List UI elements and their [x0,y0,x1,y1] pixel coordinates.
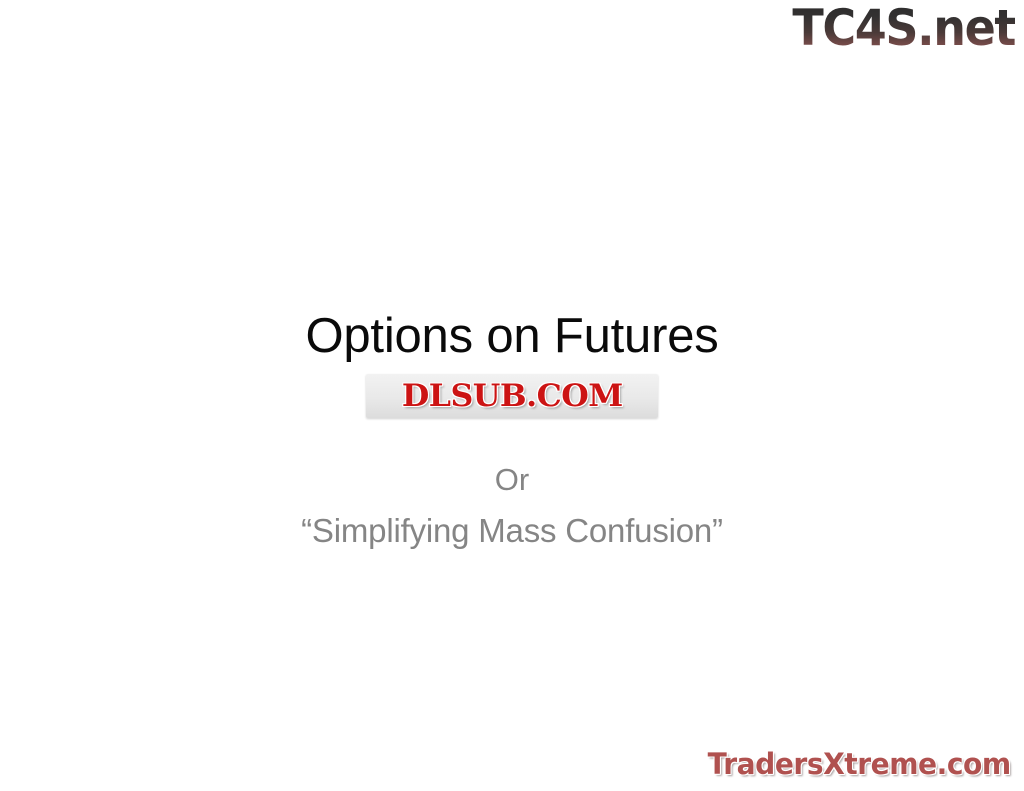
subtitle-line-1: Or [0,455,1024,505]
brand-logo-tc4s[interactable]: TC4S.net [773,0,1015,56]
title-block: Options on Futures [0,306,1024,366]
watermark-dlsub-text: DLSUB.COM [402,381,623,412]
subtitle-block: Or “Simplifying Mass Confusion” [0,455,1024,557]
brand-logo-text: TC4S.net [792,0,1015,56]
watermark-tradersxtreme[interactable]: TradersXtreme.com [703,746,1015,782]
slide-canvas: TC4S.net Options on Futures DLSUB.COM Or… [0,0,1024,791]
watermark-tradersxtreme-text: TradersXtreme.com [707,746,1010,782]
watermark-dlsub[interactable]: DLSUB.COM [366,374,658,418]
page-title: Options on Futures [0,306,1024,366]
subtitle-line-2: “Simplifying Mass Confusion” [0,505,1024,557]
